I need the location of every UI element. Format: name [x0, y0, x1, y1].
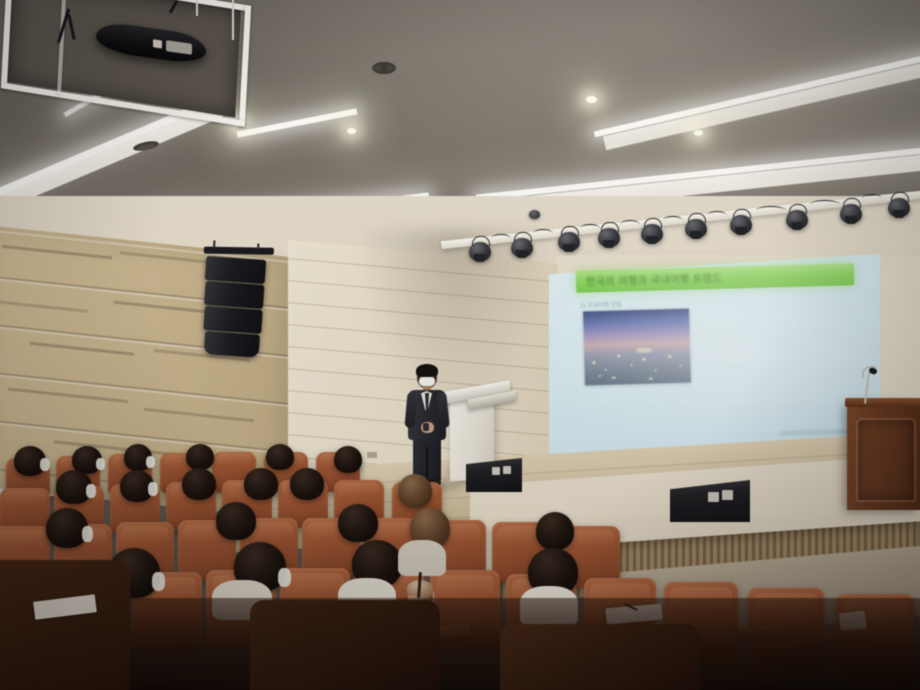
par-cable [707, 211, 727, 220]
foreground-seat[interactable] [250, 600, 440, 690]
presenter-hair [416, 364, 438, 377]
par-cable [810, 200, 840, 209]
attendee-head [216, 502, 256, 540]
par-cable [862, 194, 882, 203]
par-yoke [733, 209, 751, 219]
par-yoke [561, 226, 579, 236]
par-cable [491, 234, 511, 243]
auditorium-photo: 한국의 여행과 국내여행 트렌드 1) 국내여행 현황 [0, 0, 920, 690]
face-mask [148, 482, 158, 496]
face-mask [40, 458, 50, 471]
par-yoke [688, 213, 706, 223]
attendee-head [266, 444, 294, 470]
par-cable [663, 216, 683, 225]
attendee-head [334, 446, 362, 473]
ceiling-spotlight-1 [586, 96, 597, 103]
par-cable [580, 224, 600, 233]
attendee-head [182, 468, 216, 500]
attendee-head [244, 468, 278, 500]
par-cable [756, 206, 786, 215]
slide-photo [583, 309, 691, 386]
attendee-head [536, 512, 574, 550]
ceiling-spotlight-4 [694, 130, 703, 136]
par-yoke [789, 204, 807, 214]
foreground-shadow [0, 598, 920, 690]
projector-support-rod-2 [196, 0, 198, 16]
face-mask [146, 456, 155, 468]
lectern-top [845, 398, 920, 407]
ceiling-recessed-fixture [372, 62, 396, 74]
face-mask [86, 484, 96, 498]
attendee-body [398, 540, 446, 576]
par-cable [620, 220, 640, 229]
par-yoke [472, 236, 490, 246]
face-mask [96, 458, 105, 470]
attendee-head [338, 504, 378, 542]
dome-camera-icon [529, 210, 540, 219]
attendee-head [290, 468, 324, 500]
line-array-speaker [199, 250, 268, 362]
face-mask [82, 526, 93, 542]
face-mask [152, 572, 165, 591]
slide-title: 한국의 여행과 국내여행 트렌드 [586, 266, 848, 288]
par-yoke [601, 222, 619, 232]
par-yoke [843, 198, 861, 208]
foreground-seat[interactable] [500, 624, 700, 690]
attendee-head [398, 474, 432, 508]
par-yoke [644, 218, 662, 228]
face-mask [278, 568, 291, 587]
projector-support-rod-1 [232, 0, 234, 40]
foreground-seat[interactable] [0, 560, 130, 690]
attendee-head [186, 444, 214, 470]
par-yoke [514, 232, 532, 242]
par-yoke [891, 192, 909, 202]
ceiling-spotlight-3 [347, 128, 356, 134]
par-cable [533, 229, 553, 238]
